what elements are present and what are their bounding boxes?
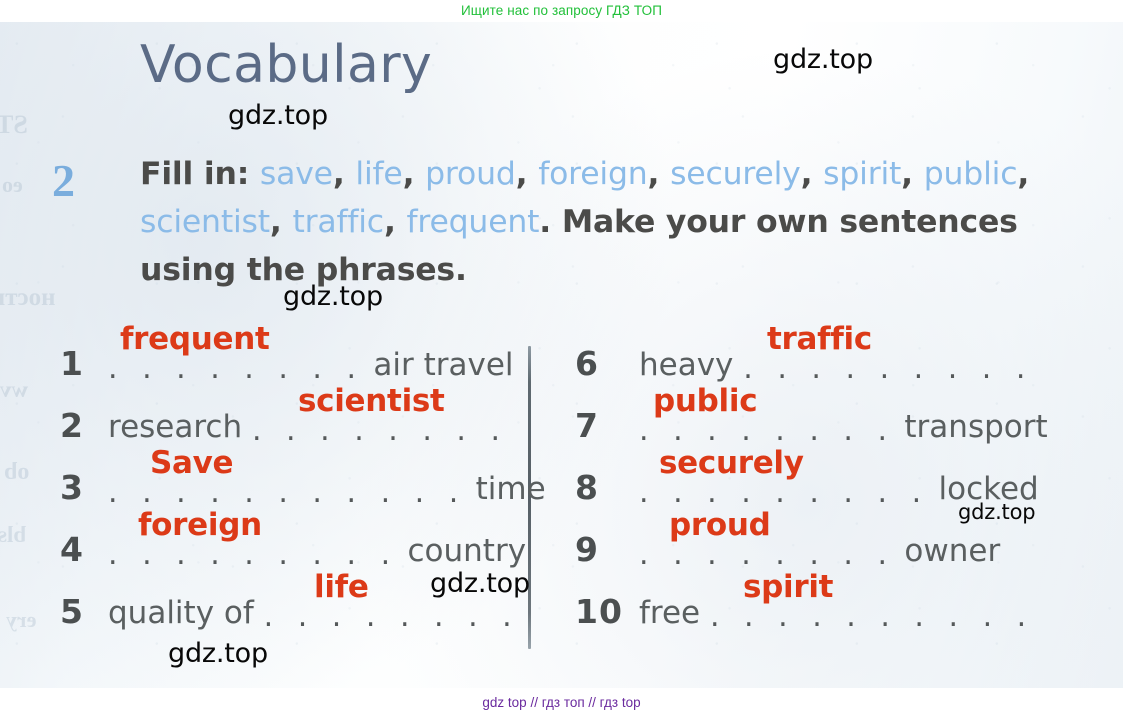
task-keyword: foreign (538, 156, 647, 192)
task-keyword: public (924, 156, 1018, 192)
answer-number: 10 (575, 592, 639, 631)
answer-number: 9 (575, 530, 639, 569)
promo-banner-top: Ищите нас по запросу ГДЗ ТОП (0, 0, 1123, 22)
task-keyword: scientist (140, 204, 270, 240)
answer-phrase: . . . . . . . . . country foreign (108, 533, 526, 569)
answer-number: 5 (60, 592, 108, 631)
answer-row: 5 quality of . . . . . . . . life (60, 592, 520, 654)
phrase-suffix: transport (904, 409, 1047, 445)
answer-number: 7 (575, 406, 639, 445)
answer-row: 4 . . . . . . . . . country foreign (60, 530, 520, 592)
phrase-suffix: time (476, 471, 546, 507)
filled-answer: frequent (120, 321, 270, 357)
phrase-suffix: air travel (373, 347, 513, 383)
task-number: 2 (52, 158, 75, 204)
promo-banner-bottom: gdz top // гдз топ // гдз top (0, 688, 1123, 714)
answer-number: 8 (575, 468, 639, 507)
answer-phrase: quality of . . . . . . . . life (108, 595, 520, 631)
task-keyword: proud (425, 156, 516, 192)
answer-number: 1 (60, 344, 108, 383)
textbook-page-scan: ST eo ность wv ob bls ery Vocabulary 2 F… (0, 22, 1123, 688)
answer-phrase: . . . . . . . . . locked securely (639, 471, 1045, 507)
task-keyword: save (260, 156, 333, 192)
answer-phrase: heavy . . . . . . . . . traffic (639, 347, 1045, 383)
phrase-suffix: owner (904, 533, 1000, 569)
filled-answer: traffic (767, 321, 872, 357)
answer-number: 4 (60, 530, 108, 569)
task-instruction: Fill in: save, life, proud, foreign, sec… (140, 150, 1062, 295)
filled-answer: life (314, 569, 369, 605)
filled-answer: public (653, 383, 757, 419)
filled-answer: scientist (298, 383, 445, 419)
answer-row: 10 free . . . . . . . . . . spirit (575, 592, 1045, 654)
answer-row: 6 heavy . . . . . . . . . traffic (575, 344, 1045, 406)
filled-answer: spirit (743, 569, 833, 605)
phrase-prefix: free (639, 595, 700, 631)
phrase-prefix: heavy (639, 347, 733, 383)
bleed-text: ST (0, 110, 28, 140)
phrase-suffix: locked (938, 471, 1038, 507)
answer-row: 3 . . . . . . . . . . . time Save (60, 468, 520, 530)
answer-phrase: . . . . . . . . . . . time Save (108, 471, 546, 507)
phrase-suffix: country (407, 533, 526, 569)
answer-number: 3 (60, 468, 108, 507)
bleed-text: ность (0, 284, 56, 312)
answer-phrase: . . . . . . . . owner proud (639, 533, 1045, 569)
answers-area: 1 . . . . . . . . air travel frequent 2 … (0, 322, 1123, 662)
answer-phrase: free . . . . . . . . . . spirit (639, 595, 1045, 631)
answer-row: 7 . . . . . . . . transport public (575, 406, 1045, 468)
answers-column-right: 6 heavy . . . . . . . . . traffic 7 . . … (575, 322, 1045, 662)
answer-number: 2 (60, 406, 108, 445)
answer-row: 2 research . . . . . . . . scientist (60, 406, 520, 468)
task-keyword: life (355, 156, 402, 192)
filled-answer: proud (669, 507, 771, 543)
task-keyword: traffic (292, 204, 383, 240)
filled-answer: foreign (138, 507, 262, 543)
answer-row: 8 . . . . . . . . . locked securely (575, 468, 1045, 530)
answer-row: 1 . . . . . . . . air travel frequent (60, 344, 520, 406)
bleed-text: eo (2, 172, 23, 198)
task-keyword: frequent (407, 204, 540, 240)
answer-phrase: . . . . . . . . transport public (639, 409, 1048, 445)
task-keyword: spirit (823, 156, 901, 192)
answer-number: 6 (575, 344, 639, 383)
task-block: 2 Fill in: save, life, proud, foreign, s… (52, 150, 1062, 295)
dot-leader: . . . . . . . . (264, 599, 520, 634)
section-title: Vocabulary (140, 35, 432, 95)
filled-answer: Save (150, 445, 233, 481)
phrase-prefix: research (108, 409, 242, 445)
answer-phrase: research . . . . . . . . scientist (108, 409, 520, 445)
task-keyword: securely (670, 156, 801, 192)
phrase-prefix: quality of (108, 595, 254, 631)
answers-column-left: 1 . . . . . . . . air travel frequent 2 … (60, 322, 520, 662)
filled-answer: securely (659, 445, 804, 481)
answer-phrase: . . . . . . . . air travel frequent (108, 347, 520, 383)
task-lead: Fill in: (140, 156, 249, 192)
